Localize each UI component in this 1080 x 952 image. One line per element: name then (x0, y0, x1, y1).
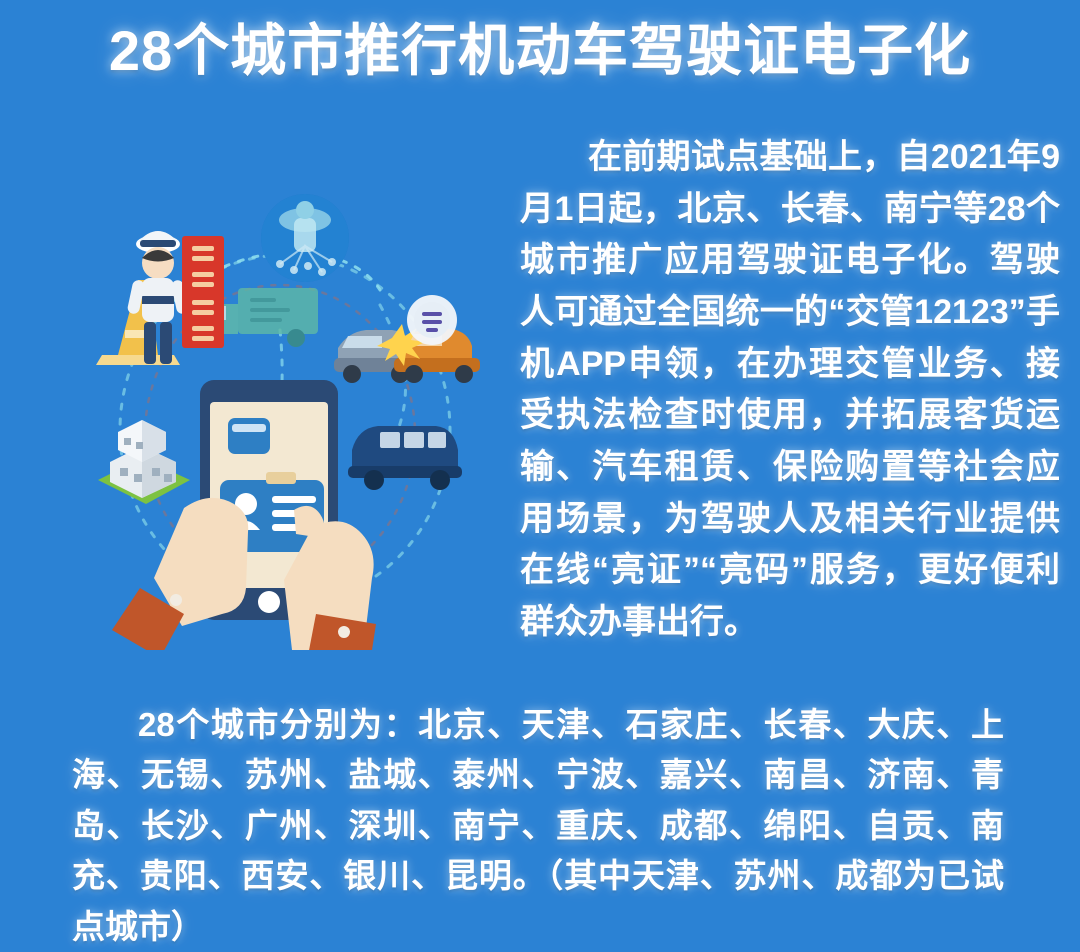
police-officer-icon (96, 231, 224, 365)
van-icon (348, 426, 462, 490)
illustration (80, 180, 500, 650)
intro-paragraph: 在前期试点基础上，自2021年9月1日起，北京、长春、南宁等28个城市推广应用驾… (520, 132, 1060, 649)
globe-network-icon (261, 194, 349, 282)
enforcement-sign (182, 236, 224, 348)
page-title: 28个城市推行机动车驾驶证电子化 (0, 22, 1080, 81)
infographic-poster: 28个城市推行机动车驾驶证电子化 (0, 0, 1080, 945)
office-building-icon (98, 420, 190, 504)
city-list-paragraph: 28个城市分别为：北京、天津、石家庄、长春、大庆、上海、无锡、苏州、盐城、泰州、… (72, 700, 1004, 952)
car-accident-insurance-icon (334, 295, 480, 383)
